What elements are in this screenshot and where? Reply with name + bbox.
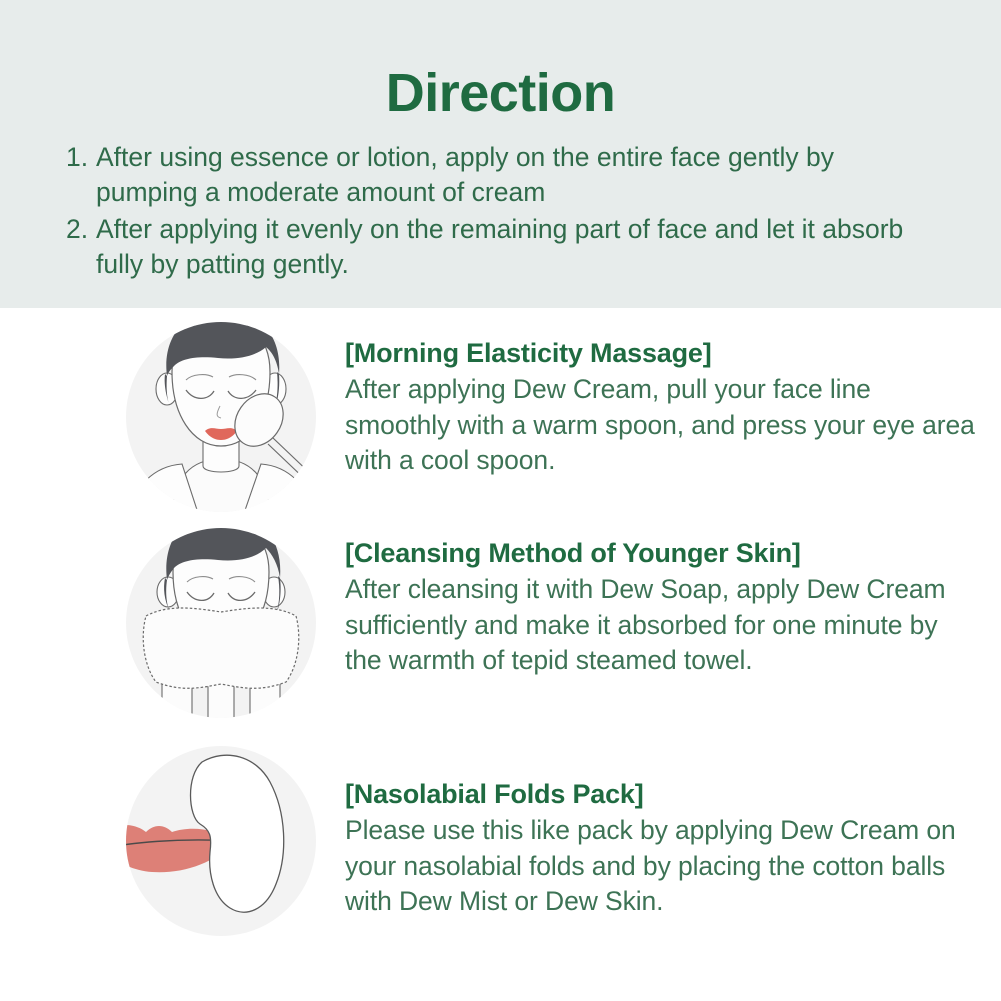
direction-step-1: 1. After using essence or lotion, apply …	[66, 140, 936, 210]
tip-section-1-body: [Morning Elasticity Massage] After apply…	[340, 308, 1001, 479]
lips-with-cotton-pad-svg	[110, 738, 340, 943]
lips-with-cotton-pad-illustration	[110, 738, 340, 943]
tip-section-2-description: After cleansing it with Dew Soap, apply …	[345, 572, 981, 679]
header-band: Direction 1. After using essence or loti…	[0, 0, 1001, 308]
direction-step-1-text: After using essence or lotion, apply on …	[96, 140, 936, 210]
tip-section-nasolabial-folds-pack: [Nasolabial Folds Pack] Please use this …	[0, 738, 1001, 938]
woman-face-with-spoon-illustration	[110, 314, 340, 519]
tip-section-1-heading: [Morning Elasticity Massage]	[345, 334, 981, 372]
page-title: Direction	[0, 62, 1001, 124]
tip-section-cleansing-method-of-younger-skin: [Cleansing Method of Younger Skin] After…	[0, 520, 1001, 738]
tip-section-2-body: [Cleansing Method of Younger Skin] After…	[340, 520, 1001, 679]
direction-step-1-number: 1.	[66, 140, 96, 175]
tip-section-3-description: Please use this like pack by applying De…	[345, 813, 981, 920]
woman-face-with-spoon-svg	[110, 314, 340, 519]
usage-tips-list: [Morning Elasticity Massage] After apply…	[0, 308, 1001, 938]
tip-section-3-body: [Nasolabial Folds Pack] Please use this …	[340, 738, 1001, 920]
direction-instruction-page: Direction 1. After using essence or loti…	[0, 0, 1001, 1001]
direction-step-2: 2. After applying it evenly on the remai…	[66, 212, 936, 282]
direction-step-list: 1. After using essence or lotion, apply …	[66, 140, 936, 284]
direction-step-2-number: 2.	[66, 212, 96, 247]
direction-step-2-text: After applying it evenly on the remainin…	[96, 212, 936, 282]
woman-face-with-steamed-towel-svg	[110, 520, 340, 725]
tip-section-2-heading: [Cleansing Method of Younger Skin]	[345, 534, 981, 572]
tip-section-1-description: After applying Dew Cream, pull your face…	[345, 372, 981, 479]
tip-section-3-heading: [Nasolabial Folds Pack]	[345, 775, 981, 813]
woman-face-with-steamed-towel-illustration	[110, 520, 340, 725]
tip-section-morning-elasticity-massage: [Morning Elasticity Massage] After apply…	[0, 308, 1001, 520]
